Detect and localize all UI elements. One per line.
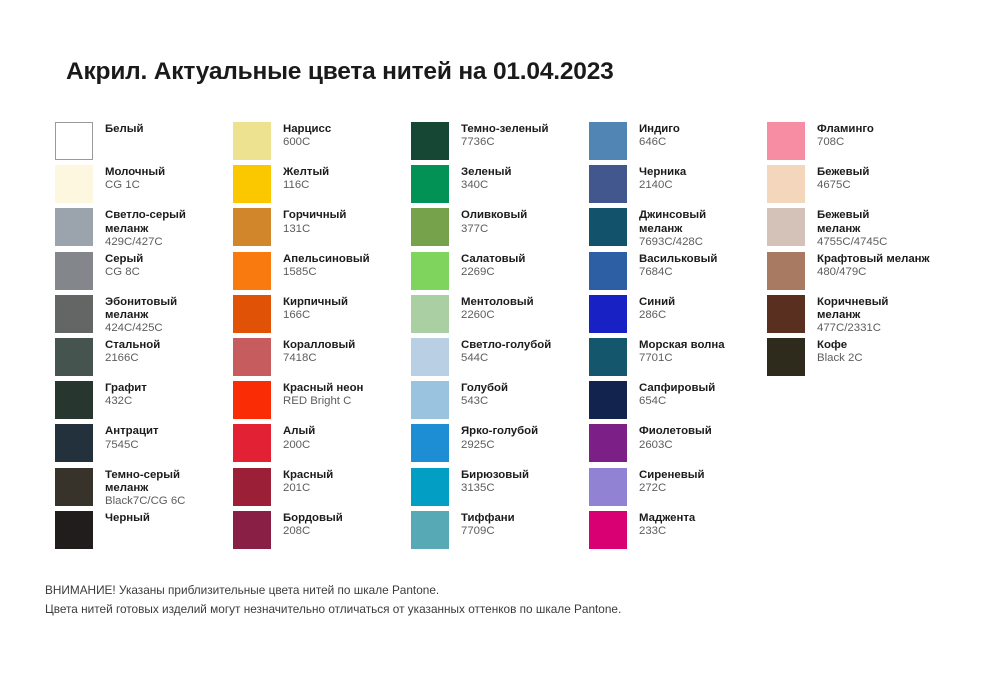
swatch-labels: Сапфировый654C	[639, 381, 715, 408]
color-swatch[interactable]	[233, 295, 271, 333]
swatch-pantone-code: 543C	[461, 395, 508, 408]
swatch-row[interactable]: Темно-зеленый7736C	[411, 122, 589, 165]
swatch-pantone-code: Black 2C	[817, 352, 863, 365]
swatch-labels: Сиреневый272C	[639, 468, 704, 495]
swatch-row[interactable]: Апельсиновый1585C	[233, 252, 411, 295]
color-swatch[interactable]	[233, 252, 271, 290]
swatch-labels: Кирпичный166C	[283, 295, 348, 322]
swatch-labels: Черника2140C	[639, 165, 686, 192]
swatch-pantone-code: 2603C	[639, 439, 712, 452]
swatch-pantone-code: 654C	[639, 395, 715, 408]
swatch-row[interactable]: Эбонитовыймеланж424C/425C	[55, 295, 233, 338]
swatch-labels: Темно-зеленый7736C	[461, 122, 549, 149]
swatch-name: Апельсиновый	[283, 253, 370, 266]
swatch-name: Синий	[639, 296, 675, 309]
swatch-pantone-code: 7709C	[461, 525, 515, 538]
swatch-column: Нарцисс600CЖелтый116CГорчичный131CАпельс…	[233, 122, 411, 554]
swatch-row[interactable]: Красный неонRED Bright C	[233, 381, 411, 424]
swatch-row[interactable]: Крафтовый меланж480/479C	[767, 252, 945, 295]
color-swatch[interactable]	[589, 252, 627, 290]
color-swatch[interactable]	[411, 122, 449, 160]
swatch-row[interactable]: Морская волна7701C	[589, 338, 767, 381]
swatch-row[interactable]: Кирпичный166C	[233, 295, 411, 338]
swatch-row[interactable]: Черника2140C	[589, 165, 767, 208]
swatch-labels: Нарцисс600C	[283, 122, 331, 149]
swatch-name: Васильковый	[639, 253, 717, 266]
swatch-name: Сапфировый	[639, 382, 715, 395]
swatch-name: Графит	[105, 382, 147, 395]
color-chart-page: Акрил. Актуальные цвета нитей на 01.04.2…	[0, 0, 1000, 683]
swatch-pantone-code: 7701C	[639, 352, 725, 365]
swatch-name: Серый	[105, 253, 143, 266]
swatch-row[interactable]: Индиго646C	[589, 122, 767, 165]
swatch-name: Горчичный	[283, 209, 346, 222]
swatch-name: Бежевый	[817, 166, 869, 179]
swatch-name: Желтый	[283, 166, 329, 179]
swatch-labels: Апельсиновый1585C	[283, 252, 370, 279]
page-title: Акрил. Актуальные цвета нитей на 01.04.2…	[66, 58, 614, 86]
color-swatch[interactable]	[55, 338, 93, 376]
swatch-labels: Алый200C	[283, 424, 315, 451]
swatch-row[interactable]: Горчичный131C	[233, 208, 411, 251]
swatch-pantone-code: 2260C	[461, 309, 534, 322]
swatch-row[interactable]: Черный	[55, 511, 233, 554]
swatch-name: Салатовый	[461, 253, 525, 266]
swatch-pantone-code: 116C	[283, 179, 329, 192]
swatch-row[interactable]: Красный201C	[233, 468, 411, 511]
swatch-name: Оливковый	[461, 209, 527, 222]
swatch-name-continued: меланж	[105, 482, 185, 495]
color-swatch[interactable]	[233, 165, 271, 203]
swatch-row[interactable]: Антрацит7545C	[55, 424, 233, 467]
color-swatch[interactable]	[55, 511, 93, 549]
color-swatch[interactable]	[55, 165, 93, 203]
swatch-labels: Морская волна7701C	[639, 338, 725, 365]
swatch-name: Темно-зеленый	[461, 123, 549, 136]
swatch-labels: Бежевыймеланж4755C/4745C	[817, 208, 887, 249]
swatch-pantone-code: 233C	[639, 525, 695, 538]
swatch-name: Нарцисс	[283, 123, 331, 136]
swatch-pantone-code: 2140C	[639, 179, 686, 192]
swatch-labels: Красный201C	[283, 468, 333, 495]
swatch-pantone-code: 166C	[283, 309, 348, 322]
swatch-pantone-code: 4755C/4745C	[817, 236, 887, 249]
color-swatch[interactable]	[233, 338, 271, 376]
swatch-name-continued: меланж	[639, 223, 706, 236]
swatch-pantone-code: 377C	[461, 223, 527, 236]
color-swatch[interactable]	[55, 381, 93, 419]
swatch-row[interactable]: Фламинго708C	[767, 122, 945, 165]
swatch-name: Красный	[283, 469, 333, 482]
swatch-name: Молочный	[105, 166, 165, 179]
swatch-labels: Светло-серыймеланж429C/427C	[105, 208, 186, 249]
swatch-pantone-code: 3135C	[461, 482, 529, 495]
swatch-labels: Коралловый7418C	[283, 338, 355, 365]
swatch-name: Коричневый	[817, 296, 888, 309]
swatch-column: Индиго646CЧерника2140CДжинсовыймеланж769…	[589, 122, 767, 554]
swatch-labels: Фламинго708C	[817, 122, 874, 149]
swatch-labels: МолочныйCG 1C	[105, 165, 165, 192]
color-swatch[interactable]	[589, 338, 627, 376]
swatch-labels: Маджента233C	[639, 511, 695, 538]
swatch-name: Крафтовый меланж	[817, 253, 930, 266]
color-swatch[interactable]	[55, 424, 93, 462]
color-swatch[interactable]	[589, 122, 627, 160]
swatch-pantone-code: 340C	[461, 179, 512, 192]
swatch-name: Кофе	[817, 339, 863, 352]
swatch-name: Стальной	[105, 339, 160, 352]
swatch-labels: Горчичный131C	[283, 208, 346, 235]
swatch-pantone-code: 429C/427C	[105, 236, 186, 249]
swatch-row[interactable]: СерыйCG 8C	[55, 252, 233, 295]
color-swatch[interactable]	[589, 295, 627, 333]
swatch-pantone-code: 208C	[283, 525, 343, 538]
swatch-labels: Светло-голубой544C	[461, 338, 551, 365]
color-swatch[interactable]	[55, 252, 93, 290]
swatch-pantone-code: CG 1C	[105, 179, 165, 192]
color-swatch[interactable]	[589, 381, 627, 419]
swatch-pantone-code: 7545C	[105, 439, 159, 452]
color-swatch[interactable]	[233, 381, 271, 419]
swatch-name: Маджента	[639, 512, 695, 525]
color-swatch[interactable]	[767, 208, 805, 246]
swatch-labels: СерыйCG 8C	[105, 252, 143, 279]
swatch-pantone-code: 2166C	[105, 352, 160, 365]
swatch-pantone-code: 1585C	[283, 266, 370, 279]
swatch-row[interactable]: Бордовый208C	[233, 511, 411, 554]
swatch-labels: Бордовый208C	[283, 511, 343, 538]
swatch-name: Коралловый	[283, 339, 355, 352]
color-swatch[interactable]	[589, 208, 627, 246]
swatch-name: Бежевый	[817, 209, 887, 222]
swatch-name-continued: меланж	[105, 309, 177, 322]
swatch-labels: Голубой543C	[461, 381, 508, 408]
color-swatch[interactable]	[411, 381, 449, 419]
swatch-name: Тиффани	[461, 512, 515, 525]
swatch-labels: Эбонитовыймеланж424C/425C	[105, 295, 177, 336]
swatch-pantone-code: 272C	[639, 482, 704, 495]
swatch-name: Бирюзовый	[461, 469, 529, 482]
swatch-row[interactable]: Джинсовыймеланж7693C/428C	[589, 208, 767, 251]
swatch-name: Ярко-голубой	[461, 425, 538, 438]
color-swatch[interactable]	[589, 511, 627, 549]
color-swatch[interactable]	[411, 295, 449, 333]
swatch-labels: Крафтовый меланж480/479C	[817, 252, 930, 279]
swatch-pantone-code: 7693C/428C	[639, 236, 706, 249]
swatch-labels: Джинсовыймеланж7693C/428C	[639, 208, 706, 249]
swatch-labels: Зеленый340C	[461, 165, 512, 192]
swatch-name: Антрацит	[105, 425, 159, 438]
color-swatch[interactable]	[411, 424, 449, 462]
swatch-labels: КофеBlack 2C	[817, 338, 863, 365]
swatch-row[interactable]: Нарцисс600C	[233, 122, 411, 165]
swatch-row[interactable]: Тиффани7709C	[411, 511, 589, 554]
swatch-row[interactable]: Бежевыймеланж4755C/4745C	[767, 208, 945, 251]
swatch-labels: Красный неонRED Bright C	[283, 381, 363, 408]
swatch-row[interactable]: Синий286C	[589, 295, 767, 338]
color-swatch[interactable]	[55, 295, 93, 333]
swatch-name: Темно-серый	[105, 469, 185, 482]
color-swatch[interactable]	[589, 165, 627, 203]
swatch-name: Белый	[105, 123, 144, 136]
swatch-name: Черный	[105, 512, 150, 525]
swatch-labels: Индиго646C	[639, 122, 680, 149]
swatch-column: БелыйМолочныйCG 1CСветло-серыймеланж429C…	[55, 122, 233, 554]
swatch-name: Черника	[639, 166, 686, 179]
swatch-labels: Бежевый4675C	[817, 165, 869, 192]
swatch-name: Светло-голубой	[461, 339, 551, 352]
swatch-labels: Синий286C	[639, 295, 675, 322]
swatch-column: Фламинго708CБежевый4675CБежевыймеланж475…	[767, 122, 945, 381]
swatch-pantone-code: CG 8C	[105, 266, 143, 279]
color-swatch[interactable]	[233, 208, 271, 246]
swatch-row[interactable]: Коралловый7418C	[233, 338, 411, 381]
swatch-row[interactable]: Сапфировый654C	[589, 381, 767, 424]
swatch-name: Фиолетовый	[639, 425, 712, 438]
swatch-pantone-code: 477C/2331C	[817, 322, 888, 335]
swatch-name-continued: меланж	[817, 223, 887, 236]
swatch-pantone-code: 708C	[817, 136, 874, 149]
swatch-row[interactable]: Салатовый2269C	[411, 252, 589, 295]
swatch-pantone-code: 286C	[639, 309, 675, 322]
swatch-labels: Тиффани7709C	[461, 511, 515, 538]
swatch-pantone-code: 600C	[283, 136, 331, 149]
swatch-row[interactable]: Фиолетовый2603C	[589, 424, 767, 467]
swatch-row[interactable]: Голубой543C	[411, 381, 589, 424]
swatch-column: Темно-зеленый7736CЗеленый340CОливковый37…	[411, 122, 589, 554]
swatch-pantone-code: 480/479C	[817, 266, 930, 279]
swatch-grid: БелыйМолочныйCG 1CСветло-серыймеланж429C…	[55, 122, 975, 554]
swatch-name: Бордовый	[283, 512, 343, 525]
swatch-labels: Антрацит7545C	[105, 424, 159, 451]
swatch-pantone-code: RED Bright C	[283, 395, 363, 408]
color-swatch[interactable]	[233, 468, 271, 506]
swatch-row[interactable]: Зеленый340C	[411, 165, 589, 208]
color-swatch[interactable]	[411, 338, 449, 376]
swatch-name: Морская волна	[639, 339, 725, 352]
swatch-name: Джинсовый	[639, 209, 706, 222]
swatch-name: Кирпичный	[283, 296, 348, 309]
swatch-row[interactable]: Коричневыймеланж477C/2331C	[767, 295, 945, 338]
swatch-pantone-code: 7736C	[461, 136, 549, 149]
color-swatch[interactable]	[411, 208, 449, 246]
swatch-row[interactable]: Желтый116C	[233, 165, 411, 208]
swatch-labels: Желтый116C	[283, 165, 329, 192]
footer-line-1: ВНИМАНИЕ! Указаны приблизительные цвета …	[45, 581, 621, 600]
swatch-name-continued: меланж	[105, 223, 186, 236]
swatch-name: Индиго	[639, 123, 680, 136]
swatch-row[interactable]: Бирюзовый3135C	[411, 468, 589, 511]
color-swatch[interactable]	[233, 511, 271, 549]
swatch-name: Алый	[283, 425, 315, 438]
swatch-name: Ментоловый	[461, 296, 534, 309]
swatch-pantone-code: 201C	[283, 482, 333, 495]
swatch-labels: Графит432C	[105, 381, 147, 408]
swatch-pantone-code: 646C	[639, 136, 680, 149]
swatch-pantone-code: 2925C	[461, 439, 538, 452]
swatch-pantone-code: 424C/425C	[105, 322, 177, 335]
color-swatch[interactable]	[411, 165, 449, 203]
swatch-row[interactable]: Алый200C	[233, 424, 411, 467]
swatch-pantone-code: 7418C	[283, 352, 355, 365]
swatch-labels: Белый	[105, 122, 144, 136]
swatch-row[interactable]: Графит432C	[55, 381, 233, 424]
swatch-pantone-code: 7684C	[639, 266, 717, 279]
color-swatch[interactable]	[767, 295, 805, 333]
swatch-row[interactable]: Светло-голубой544C	[411, 338, 589, 381]
color-swatch[interactable]	[767, 165, 805, 203]
swatch-pantone-code: Black7C/CG 6C	[105, 495, 185, 508]
color-swatch[interactable]	[767, 252, 805, 290]
swatch-name-continued: меланж	[817, 309, 888, 322]
swatch-row[interactable]: Белый	[55, 122, 233, 165]
swatch-pantone-code: 4675C	[817, 179, 869, 192]
swatch-name: Эбонитовый	[105, 296, 177, 309]
color-swatch[interactable]	[55, 468, 93, 506]
swatch-pantone-code: 544C	[461, 352, 551, 365]
swatch-row[interactable]: Стальной2166C	[55, 338, 233, 381]
swatch-name: Красный неон	[283, 382, 363, 395]
color-swatch[interactable]	[411, 511, 449, 549]
swatch-pantone-code: 200C	[283, 439, 315, 452]
color-swatch[interactable]	[767, 122, 805, 160]
swatch-row[interactable]: Светло-серыймеланж429C/427C	[55, 208, 233, 251]
swatch-labels: Черный	[105, 511, 150, 525]
swatch-name: Светло-серый	[105, 209, 186, 222]
swatch-pantone-code: 432C	[105, 395, 147, 408]
swatch-labels: Васильковый7684C	[639, 252, 717, 279]
swatch-labels: Салатовый2269C	[461, 252, 525, 279]
color-swatch[interactable]	[767, 338, 805, 376]
color-swatch[interactable]	[233, 122, 271, 160]
swatch-pantone-code: 131C	[283, 223, 346, 236]
swatch-labels: Стальной2166C	[105, 338, 160, 365]
swatch-row[interactable]: МолочныйCG 1C	[55, 165, 233, 208]
swatch-row[interactable]: Бежевый4675C	[767, 165, 945, 208]
swatch-name: Зеленый	[461, 166, 512, 179]
swatch-row[interactable]: Ярко-голубой2925C	[411, 424, 589, 467]
swatch-row[interactable]: Сиреневый272C	[589, 468, 767, 511]
color-swatch[interactable]	[589, 424, 627, 462]
color-swatch[interactable]	[411, 468, 449, 506]
swatch-row[interactable]: Маджента233C	[589, 511, 767, 554]
color-swatch[interactable]	[233, 424, 271, 462]
swatch-name: Фламинго	[817, 123, 874, 136]
swatch-name: Голубой	[461, 382, 508, 395]
color-swatch[interactable]	[589, 468, 627, 506]
footer-line-2: Цвета нитей готовых изделий могут незнач…	[45, 600, 621, 619]
swatch-row[interactable]: Васильковый7684C	[589, 252, 767, 295]
color-swatch[interactable]	[55, 208, 93, 246]
color-swatch[interactable]	[55, 122, 93, 160]
swatch-row[interactable]: Ментоловый2260C	[411, 295, 589, 338]
swatch-labels: Бирюзовый3135C	[461, 468, 529, 495]
swatch-pantone-code: 2269C	[461, 266, 525, 279]
swatch-labels: Фиолетовый2603C	[639, 424, 712, 451]
footer-note: ВНИМАНИЕ! Указаны приблизительные цвета …	[45, 581, 621, 619]
swatch-name: Сиреневый	[639, 469, 704, 482]
swatch-row[interactable]: Темно-серыймеланжBlack7C/CG 6C	[55, 468, 233, 511]
swatch-labels: Ментоловый2260C	[461, 295, 534, 322]
swatch-labels: Оливковый377C	[461, 208, 527, 235]
swatch-labels: Коричневыймеланж477C/2331C	[817, 295, 888, 336]
swatch-row[interactable]: Оливковый377C	[411, 208, 589, 251]
swatch-labels: Темно-серыймеланжBlack7C/CG 6C	[105, 468, 185, 509]
swatch-row[interactable]: КофеBlack 2C	[767, 338, 945, 381]
swatch-labels: Ярко-голубой2925C	[461, 424, 538, 451]
color-swatch[interactable]	[411, 252, 449, 290]
